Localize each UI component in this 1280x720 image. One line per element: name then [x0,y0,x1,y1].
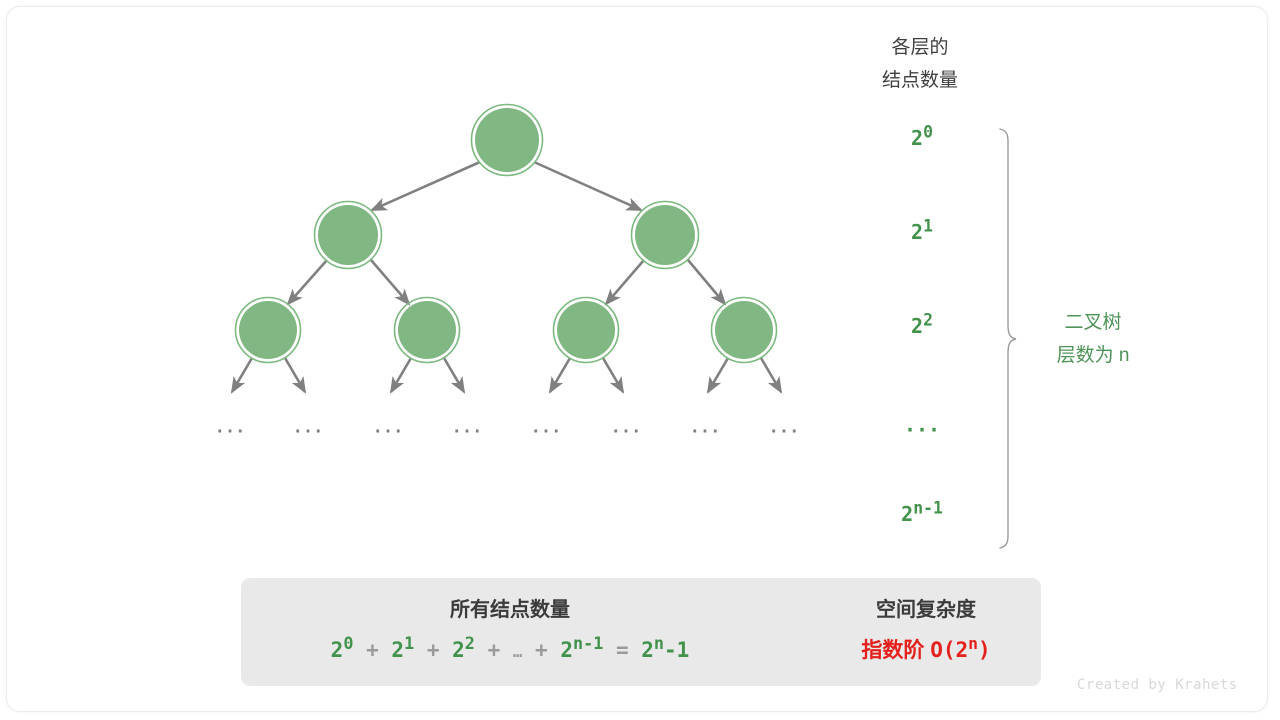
level-count-2-exp: 2 [923,310,933,329]
ellipsis-6: ··· [596,422,656,443]
figure-canvas: 各层的 结点数量 20 21 22 ··· 2n-1 二叉树 层数为 n ···… [0,0,1280,720]
level-count-2: 22 [862,314,982,339]
formula-term-2: 22 [452,638,475,662]
formula-result: 2n-1 [641,638,689,662]
formula-term-1: 21 [391,638,414,662]
level-count-1-exp: 1 [923,216,933,235]
panel-right-title: 空间复杂度 [810,598,1042,623]
column-header-line1: 各层的 [830,36,1010,60]
ellipsis-8: ··· [754,422,814,443]
ellipsis-2: ··· [278,422,338,443]
formula-op-1: + [366,638,379,662]
panel-right-value: 指数阶 O(2n) [810,637,1042,664]
watermark: Created by Krahets [1077,677,1238,695]
column-header-line2: 结点数量 [830,69,1010,93]
ellipsis-3: ··· [358,422,418,443]
formula-term-4: 2n-1 [560,638,603,662]
formula-op-4: + [535,638,548,662]
level-count-0: 20 [862,126,982,151]
level-count-0-exp: 0 [923,122,933,141]
complexity-prefix: 指数阶 [861,639,924,662]
ellipsis-4: ··· [437,422,497,443]
panel-formula: 20 + 21 + 22 + … + 2n-1 = 2n-1 [262,637,758,663]
level-count-1: 21 [862,220,982,245]
level-count-ellipsis: ··· [862,418,982,443]
formula-ellipsis: … [513,642,522,661]
level-count-last: 2n-1 [862,502,982,527]
ellipsis-5: ··· [516,422,576,443]
formula-equals: = [616,638,629,662]
formula-term-0: 20 [331,638,354,662]
level-count-last-exp: n-1 [913,498,943,517]
summary-panel [241,578,1041,686]
panel-left-title: 所有结点数量 [300,598,720,623]
brace-label-line2: 层数为 n [1030,344,1156,368]
complexity-notation: O(2n) [930,638,990,662]
brace-label-line1: 二叉树 [1030,311,1156,335]
ellipsis-7: ··· [675,422,735,443]
ellipsis-1: ··· [200,422,260,443]
formula-op-3: + [488,638,501,662]
formula-op-2: + [427,638,440,662]
